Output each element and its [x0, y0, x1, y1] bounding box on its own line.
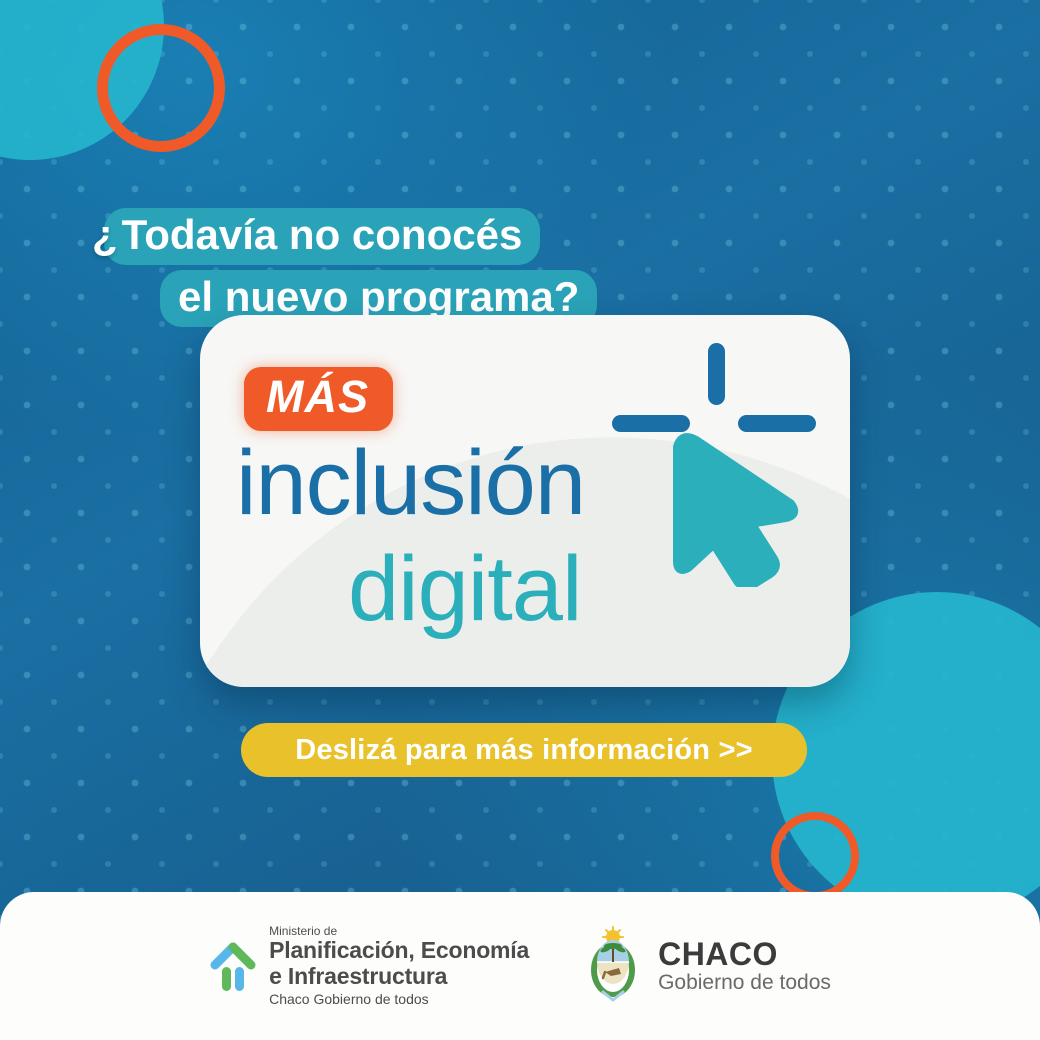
logo-word-digital: digital [348, 543, 581, 635]
footer-logos: Ministerio de Planificación, Economía e … [0, 892, 1040, 1040]
ministry-line-2: Planificación, Economía [269, 938, 529, 964]
swipe-cta-button[interactable]: Deslizá para más información >> [241, 723, 807, 777]
ministry-line-4: Chaco Gobierno de todos [269, 992, 529, 1008]
mas-badge: MÁS [244, 367, 393, 431]
decorative-ring-bottom-right [771, 812, 859, 900]
ministry-line-1: Ministerio de [269, 925, 529, 938]
promo-graphic: ¿Todavía no conocés el nuevo programa? M… [0, 0, 1040, 1040]
ministry-logo: Ministerio de Planificación, Economía e … [209, 925, 529, 1008]
headline: ¿Todavía no conocés el nuevo programa? [0, 208, 1040, 327]
program-logo-card: MÁS inclusión digital [200, 315, 850, 687]
chaco-line-2: Gobierno de todos [658, 972, 831, 994]
decorative-ring-top-left [97, 24, 225, 152]
chaco-logo: CHACO Gobierno de todos [581, 926, 831, 1006]
house-pillars-icon [209, 939, 257, 993]
headline-line-1: Todavía no conocés [104, 208, 541, 265]
cta-label: Deslizá para más información >> [295, 734, 753, 767]
chaco-coat-of-arms-icon [581, 926, 645, 1006]
headline-lead-punctuation: ¿ [92, 214, 118, 256]
cursor-arrow-icon [610, 337, 830, 587]
logo-word-inclusion: inclusión [236, 437, 585, 529]
chaco-line-1: CHACO [658, 938, 831, 972]
ministry-line-3: e Infraestructura [269, 964, 529, 990]
